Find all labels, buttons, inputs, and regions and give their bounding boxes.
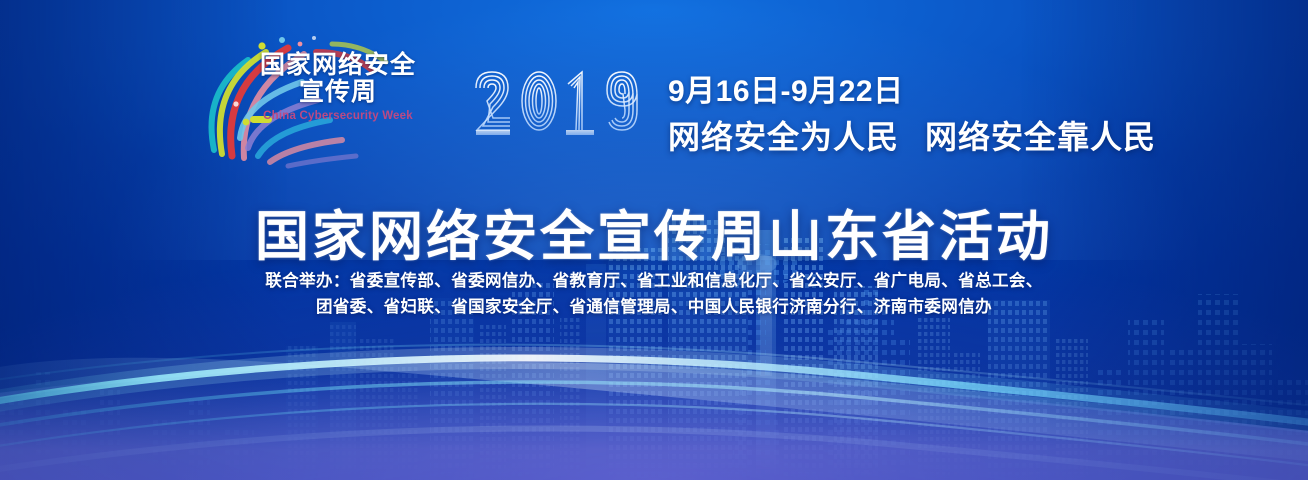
cybersecurity-week-banner: 国家网络安全 宣传周 China Cybersecurity Week	[0, 0, 1308, 480]
organizers-line-2: 团省委、省妇联、省国家安全厅、省通信管理局、中国人民银行济南分行、济南市委网信办	[0, 294, 1308, 320]
organizers-line-1: 联合举办：省委宣传部、省委网信办、省教育厅、省工业和信息化厅、省公安厅、省广电局…	[0, 268, 1308, 294]
slogan-left-part: 网络安全为人民	[668, 119, 899, 155]
logo-english-subtitle: China Cybersecurity Week	[248, 110, 428, 122]
logo-title-line2: 宣传周	[248, 78, 428, 107]
page-title: 国家网络安全宣传周山东省活动	[0, 192, 1308, 271]
event-date-range: 9月16日-9月22日	[668, 66, 904, 110]
cybersecurity-week-logo: 国家网络安全 宣传周 China Cybersecurity Week	[196, 30, 431, 170]
event-slogan: 网络安全为人民网络安全靠人民	[668, 112, 1156, 158]
slogan-right-part: 网络安全靠人民	[925, 119, 1156, 155]
organizers-block: 联合举办：省委宣传部、省委网信办、省教育厅、省工业和信息化厅、省公安厅、省广电局…	[0, 268, 1308, 320]
logo-title-line1: 国家网络安全	[248, 52, 428, 78]
logo-text-block: 国家网络安全 宣传周 China Cybersecurity Week	[248, 52, 428, 122]
year-2019-graphic	[472, 58, 672, 158]
